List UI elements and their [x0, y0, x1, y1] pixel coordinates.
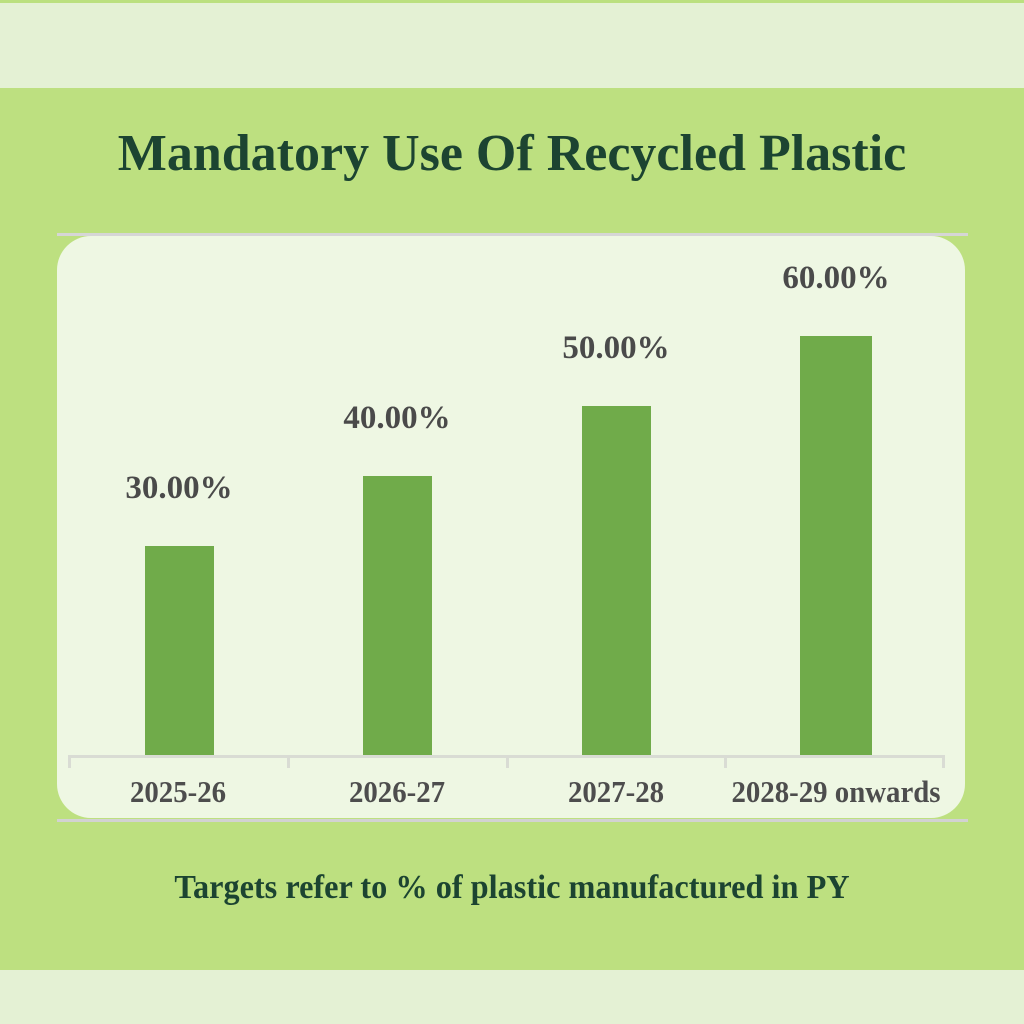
- bar-2027-28[interactable]: [582, 406, 651, 755]
- x-axis-label-2027-28: 2027-28: [551, 774, 681, 810]
- bar-2028-29-onwards[interactable]: [800, 336, 872, 755]
- bar-value-label-2025-26: 30.00%: [109, 469, 249, 507]
- bar-value-label-2028-29-onwards: 60.00%: [766, 259, 906, 297]
- x-axis-tick-start: [68, 755, 71, 768]
- x-axis-label-2025-26: 2025-26: [113, 774, 243, 810]
- x-axis-label-2026-27: 2026-27: [332, 774, 462, 810]
- divider-below-chart: [57, 819, 968, 822]
- x-axis-tick-end: [942, 755, 945, 768]
- x-axis-label-2028-29-onwards: 2028-29 onwards: [715, 774, 957, 810]
- x-axis-tick-3: [724, 755, 727, 768]
- page-title: Mandatory Use Of Recycled Plastic: [0, 122, 1024, 186]
- top-accent-rule: [0, 0, 1024, 3]
- bar-chart-plot-area: 30.00% 40.00% 50.00% 60.00% 2025-26 2026…: [57, 236, 965, 818]
- bar-2026-27[interactable]: [363, 476, 432, 755]
- footnote-text: Targets refer to % of plastic manufactur…: [26, 865, 999, 911]
- chart-card: 30.00% 40.00% 50.00% 60.00% 2025-26 2026…: [57, 236, 965, 818]
- bar-2025-26[interactable]: [145, 546, 214, 755]
- bar-value-label-2027-28: 50.00%: [546, 329, 686, 367]
- x-axis-tick-1: [287, 755, 290, 768]
- x-axis-tick-2: [506, 755, 509, 768]
- poster-canvas: Mandatory Use Of Recycled Plastic 30.00%…: [0, 0, 1024, 1024]
- bar-value-label-2026-27: 40.00%: [327, 399, 467, 437]
